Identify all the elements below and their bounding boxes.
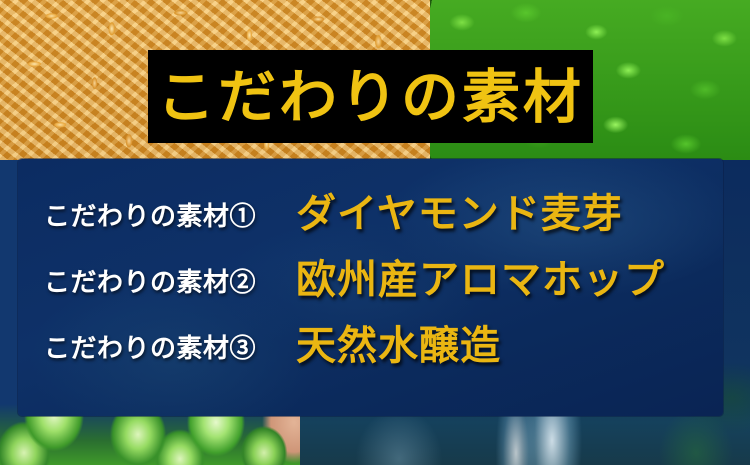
ingredient-value-2: 欧州産アロマホップ [296, 260, 665, 300]
list-item: こだわりの素材② 欧州産アロマホップ [18, 247, 723, 313]
ingredient-value-1: ダイヤモンド麦芽 [296, 194, 623, 234]
list-item: こだわりの素材③ 天然水醸造 [18, 313, 723, 379]
ingredients-panel: こだわりの素材① ダイヤモンド麦芽 こだわりの素材② 欧州産アロマホップ こだわ… [18, 159, 723, 416]
ingredient-label-1: こだわりの素材① [18, 196, 296, 233]
page-title: こだわりの素材 [157, 68, 584, 126]
ingredient-label-2: こだわりの素材② [18, 262, 296, 299]
ingredient-label-3: こだわりの素材③ [18, 328, 296, 365]
ingredients-list: こだわりの素材① ダイヤモンド麦芽 こだわりの素材② 欧州産アロマホップ こだわ… [18, 159, 723, 416]
list-item: こだわりの素材① ダイヤモンド麦芽 [18, 181, 723, 247]
promo-graphic: こだわりの素材 こだわりの素材① ダイヤモンド麦芽 こだわりの素材② 欧州産アロ… [0, 0, 750, 465]
title-banner: こだわりの素材 [148, 50, 593, 143]
ingredient-value-3: 天然水醸造 [296, 326, 501, 366]
